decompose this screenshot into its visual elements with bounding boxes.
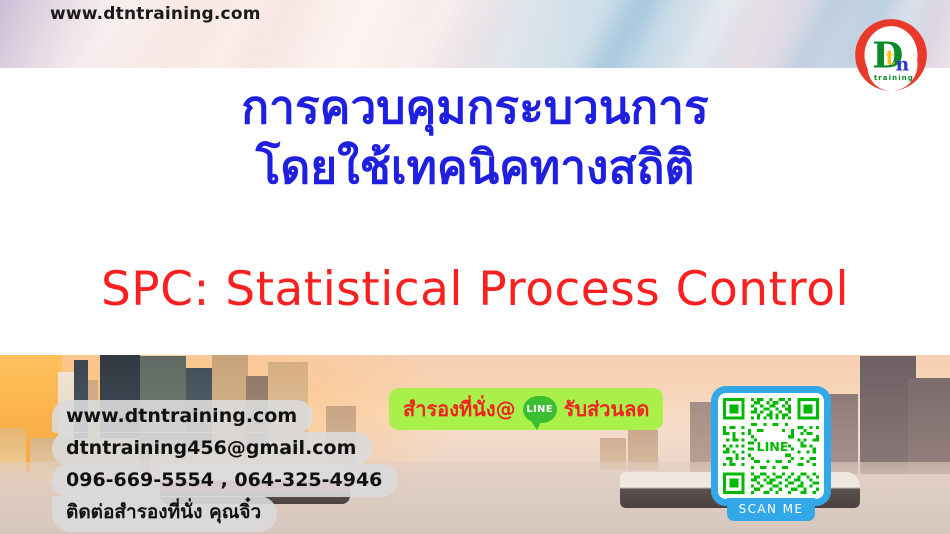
qr-center-label: LINE [757,439,789,454]
title-area: การควบคุมกระบวนการ โดยใช้เทคนิคทางสถิติ [0,78,950,198]
page-title-thai-line2: โดยใช้เทคนิคทางสถิติ [0,138,950,198]
line-promo-text-before: สำรองที่นั่ง@ [403,393,516,425]
line-icon-label: LINE [526,404,553,415]
contact-website[interactable]: www.dtntraining.com [52,400,313,433]
contact-phone[interactable]: 096-669-5554 , 064-325-4946 [52,464,398,497]
svg-text:t: t [886,45,896,69]
line-promo-text-after: รับส่วนลด [564,393,650,425]
poster-root: www.dtntraining.com D t n training การคว… [0,0,950,534]
qr-code-icon[interactable]: LINE [720,395,822,497]
banner-website-url: www.dtntraining.com [50,4,261,24]
contact-card: www.dtntraining.com dtntraining456@gmail… [52,400,398,531]
svg-text:training: training [874,73,914,82]
qr-code-frame: LINE [711,386,831,506]
skyline-building [908,378,950,474]
contact-person: ติดต่อสำรองที่นั่ง คุณจิ๋ว [52,496,277,532]
page-subtitle-english: SPC: Statistical Process Control [0,262,950,317]
line-app-icon: LINE [523,396,557,423]
contact-email[interactable]: dtntraining456@gmail.com [52,432,372,465]
dtn-training-logo-icon: D t n training [852,16,930,94]
qr-code-block[interactable]: LINE SCAN ME [711,386,831,506]
page-title-thai-line1: การควบคุมกระบวนการ [0,78,950,138]
banner-streak-2 [351,0,518,68]
scan-me-label: SCAN ME [727,498,815,521]
line-promo-banner[interactable]: สำรองที่นั่ง@ LINE รับส่วนลด [389,388,663,430]
